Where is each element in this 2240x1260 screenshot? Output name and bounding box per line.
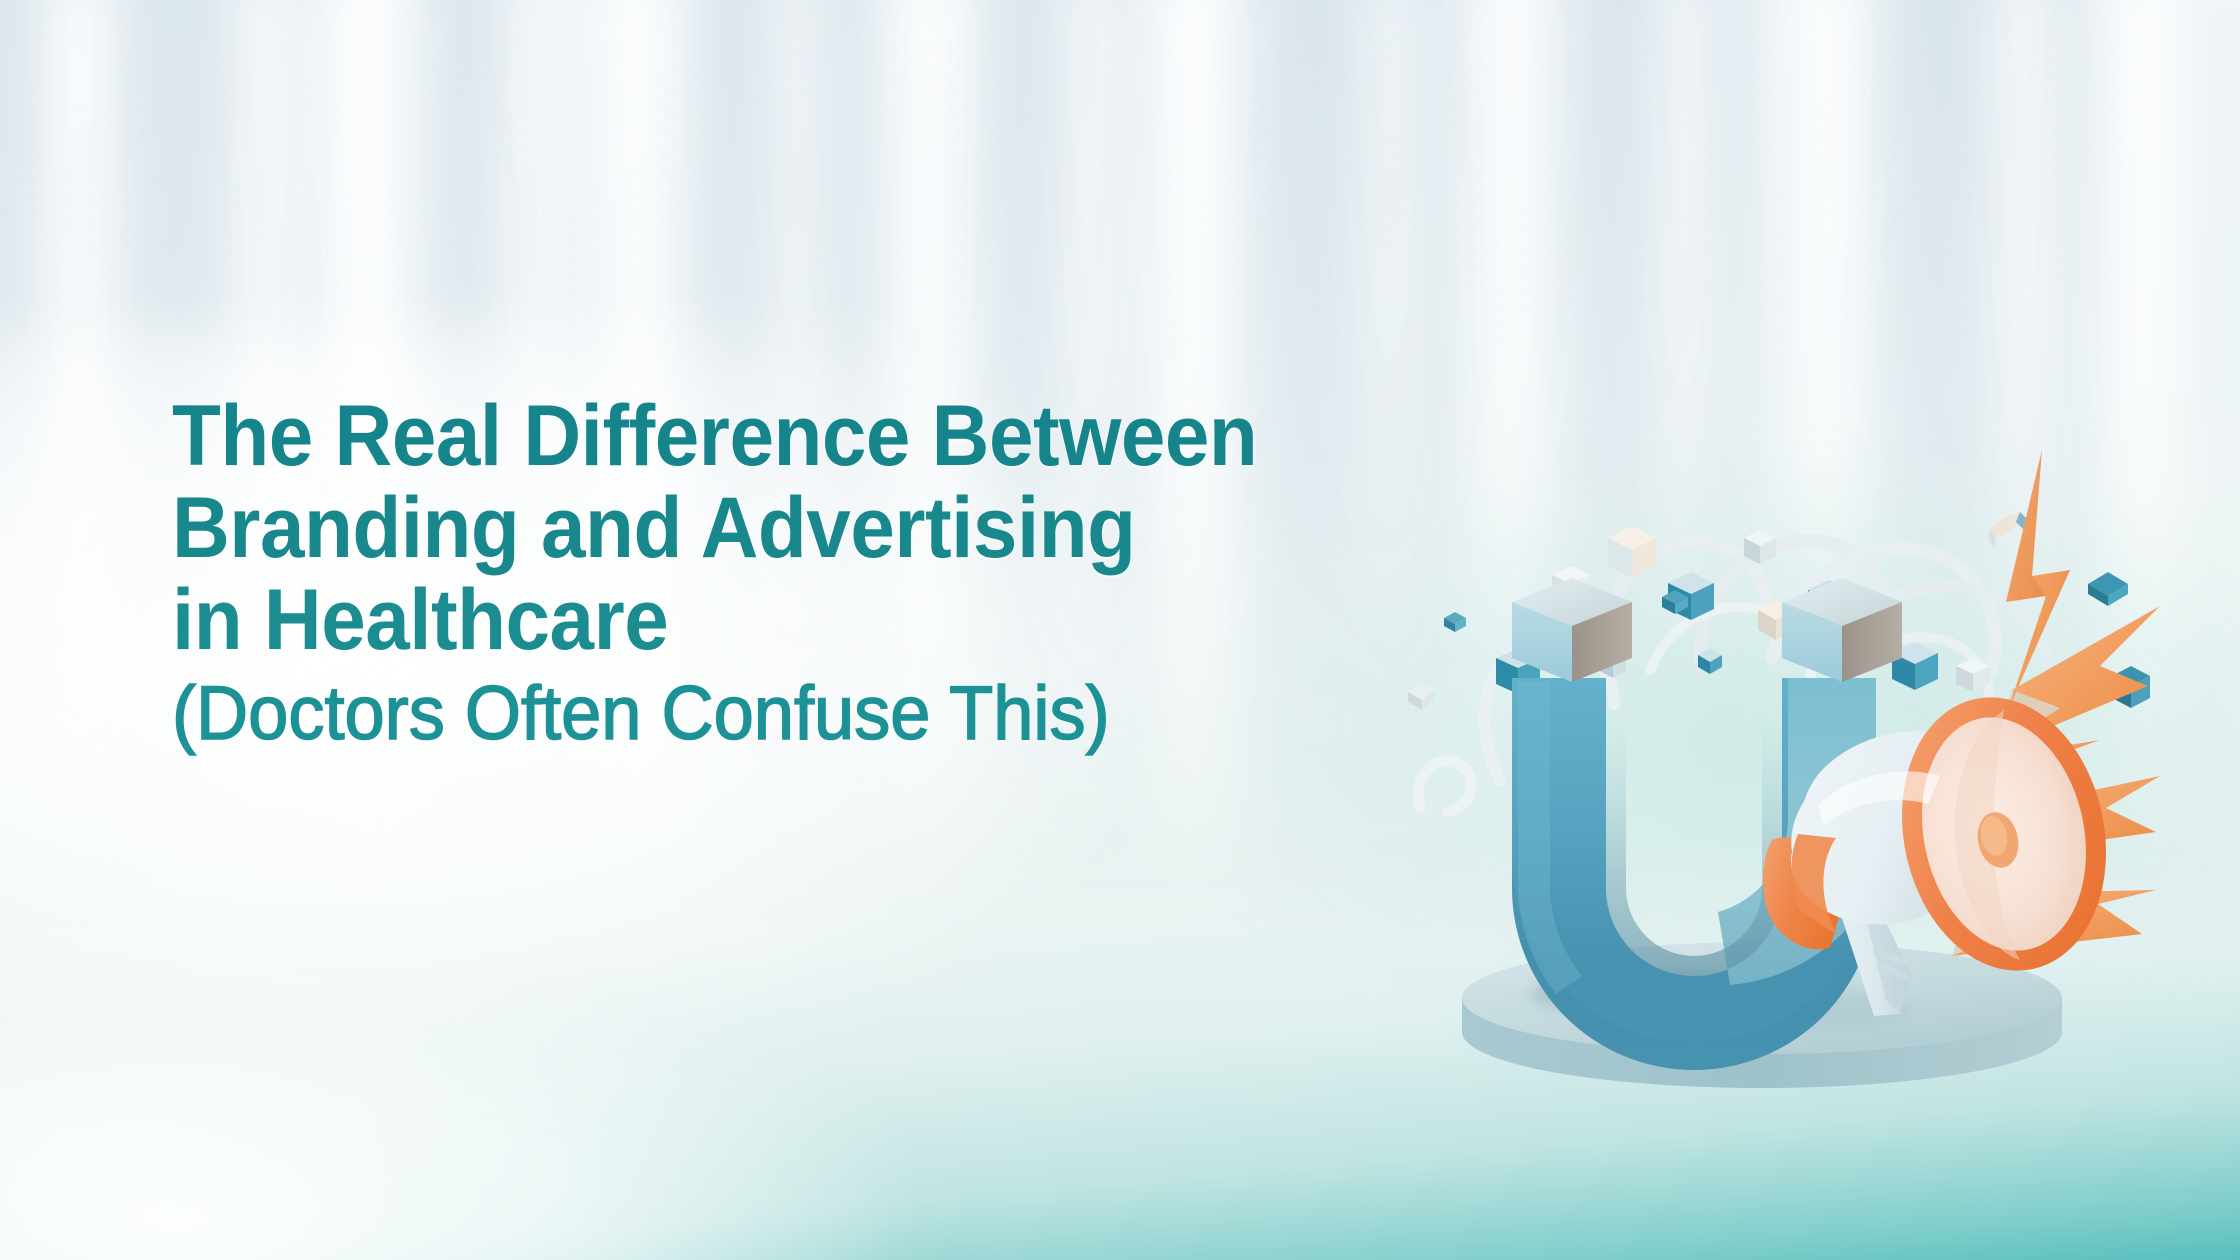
- hero-banner: The Real Difference Between Branding and…: [0, 0, 2240, 1260]
- background-bottom-left-highlight: [0, 958, 896, 1260]
- headline-block: The Real Difference Between Branding and…: [172, 390, 1652, 762]
- headline-subline: (Doctors Often Confuse This): [172, 666, 1578, 762]
- headline-line-3: in Healthcare: [172, 574, 1548, 666]
- headline-line-1: The Real Difference Between: [172, 390, 1548, 482]
- headline-line-2: Branding and Advertising: [172, 482, 1548, 574]
